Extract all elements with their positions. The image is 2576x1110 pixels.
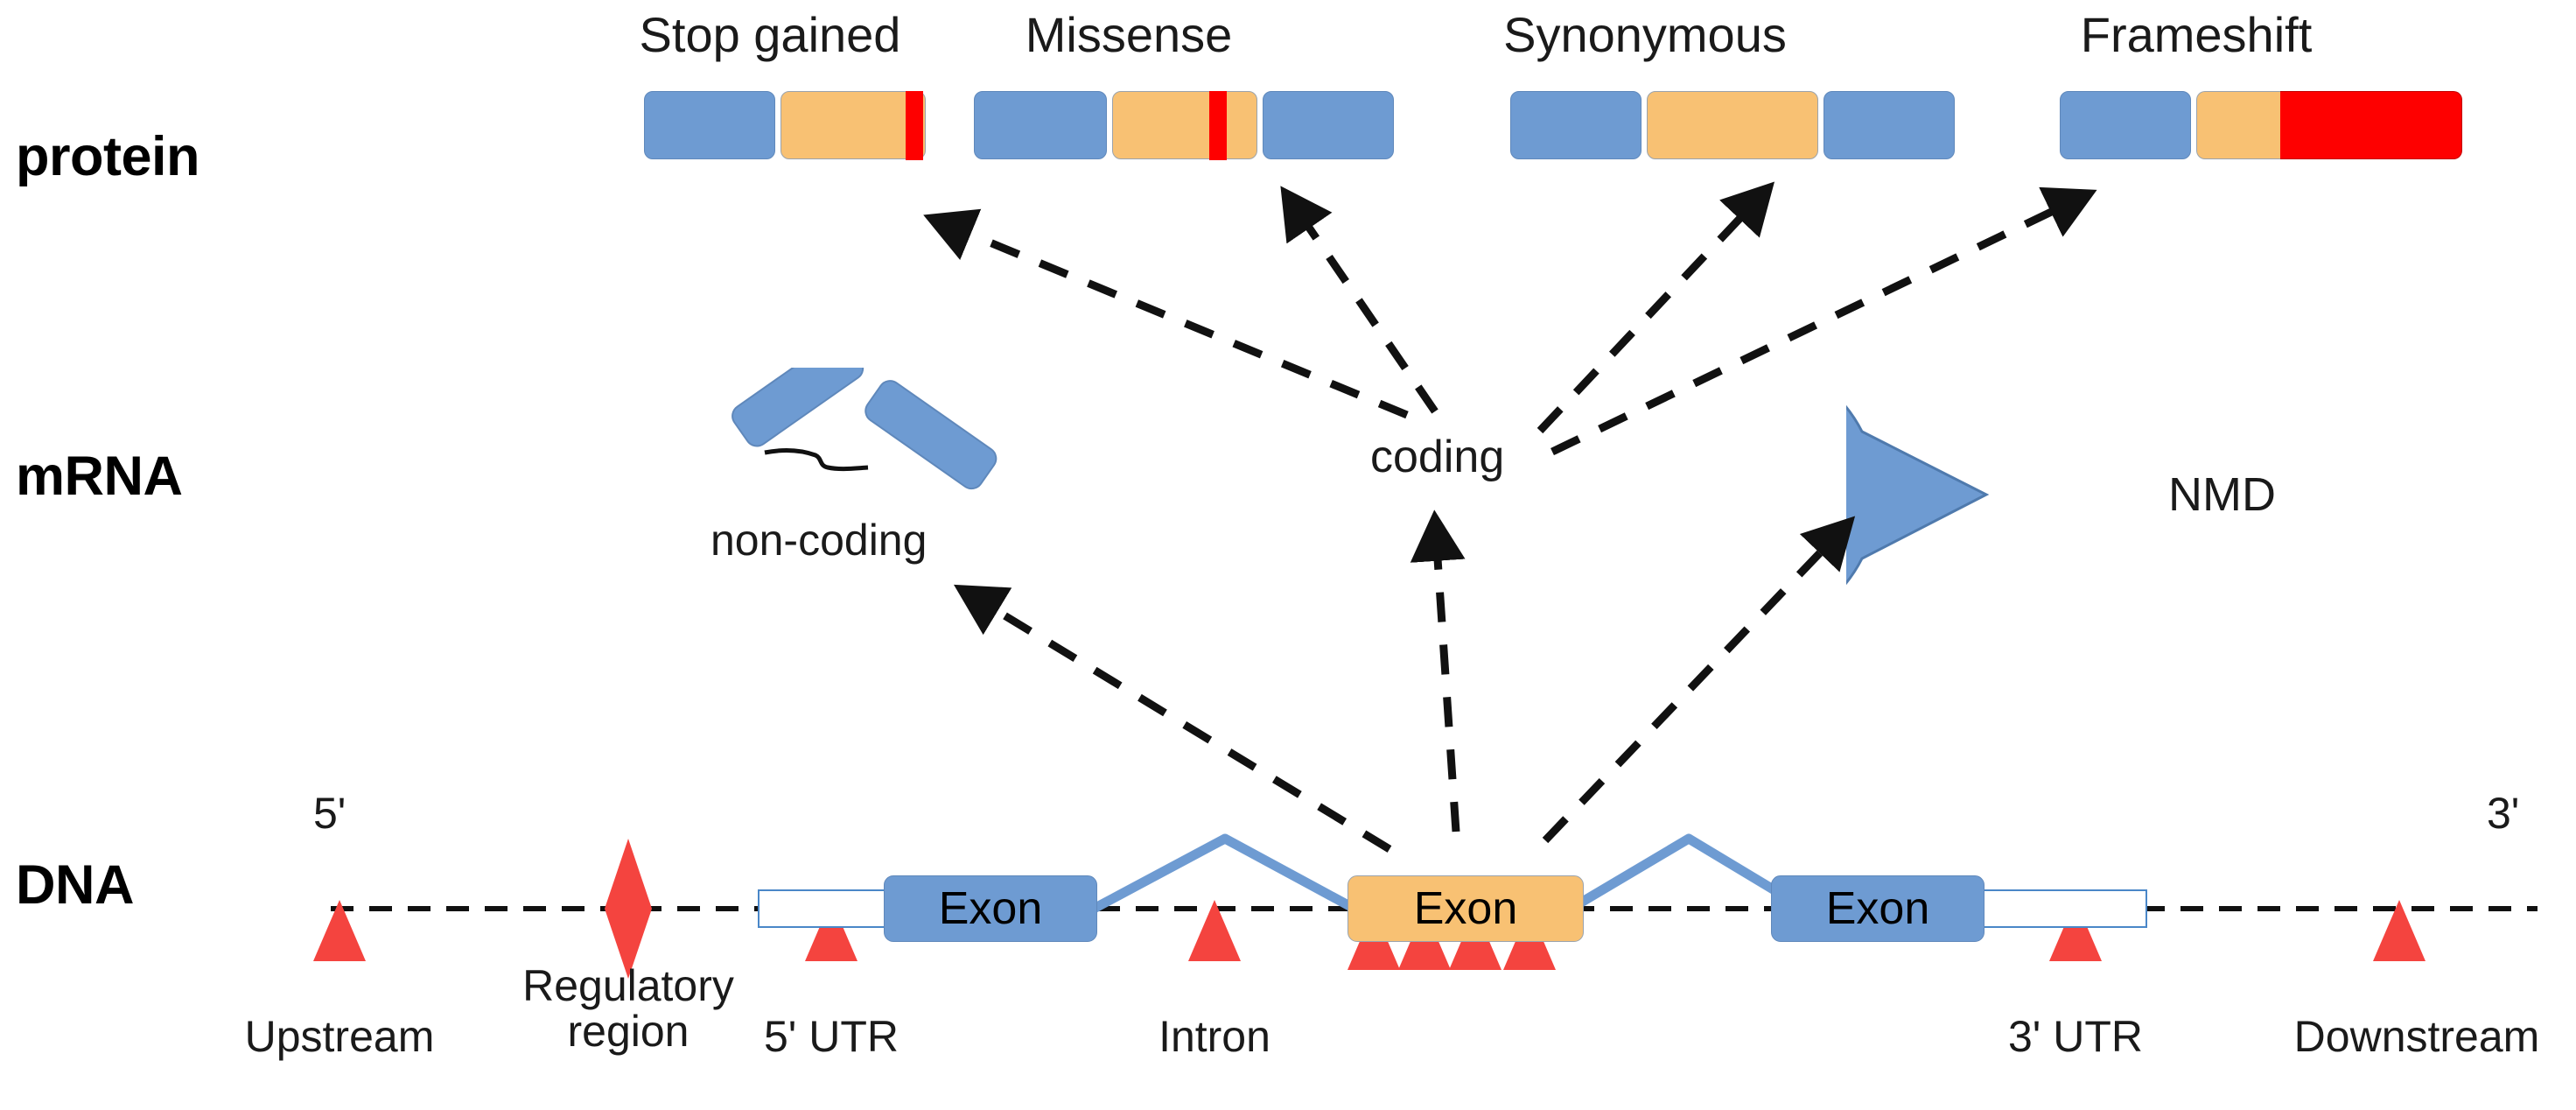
exon-box-1[interactable]: Exon: [884, 875, 1097, 942]
regulatory-region-diamond-icon: [605, 839, 652, 979]
diagram-canvas: protein mRNA DNA Stop gained Missense Sy…: [0, 0, 2576, 1110]
arrow-coding-to-stop-gained: [933, 219, 1407, 415]
arrow-coding-to-missense: [1286, 194, 1435, 411]
exon-label: Exon: [1826, 882, 1930, 935]
intron-label: Intron: [1074, 1014, 1354, 1059]
intron-connector-left: [1094, 839, 1354, 909]
three-prime-utr-box: [1976, 889, 2147, 928]
downstream-label: Downstream: [2233, 1014, 2576, 1059]
three-prime-utr-label: 3' UTR: [1935, 1014, 2215, 1059]
five-prime-utr-label: 5' UTR: [691, 1014, 971, 1059]
regulatory-region-label-line1: Regulatory: [479, 963, 777, 1008]
dna-track-graphic: [0, 770, 2576, 980]
exon-box-2[interactable]: Exon: [1347, 875, 1584, 942]
upstream-label: Upstream: [156, 1014, 523, 1059]
arrow-coding-to-frameshift: [1552, 194, 2088, 452]
three-prime-label: 3': [2487, 788, 2519, 839]
five-prime-label: 5': [313, 788, 346, 839]
exon-label: Exon: [939, 882, 1043, 935]
exon-box-3[interactable]: Exon: [1771, 875, 1984, 942]
intron-connector-right: [1571, 839, 1805, 909]
arrow-coding-to-synonymous: [1540, 189, 1767, 431]
upstream-triangle-icon: [313, 900, 366, 961]
exon-label: Exon: [1414, 882, 1518, 935]
